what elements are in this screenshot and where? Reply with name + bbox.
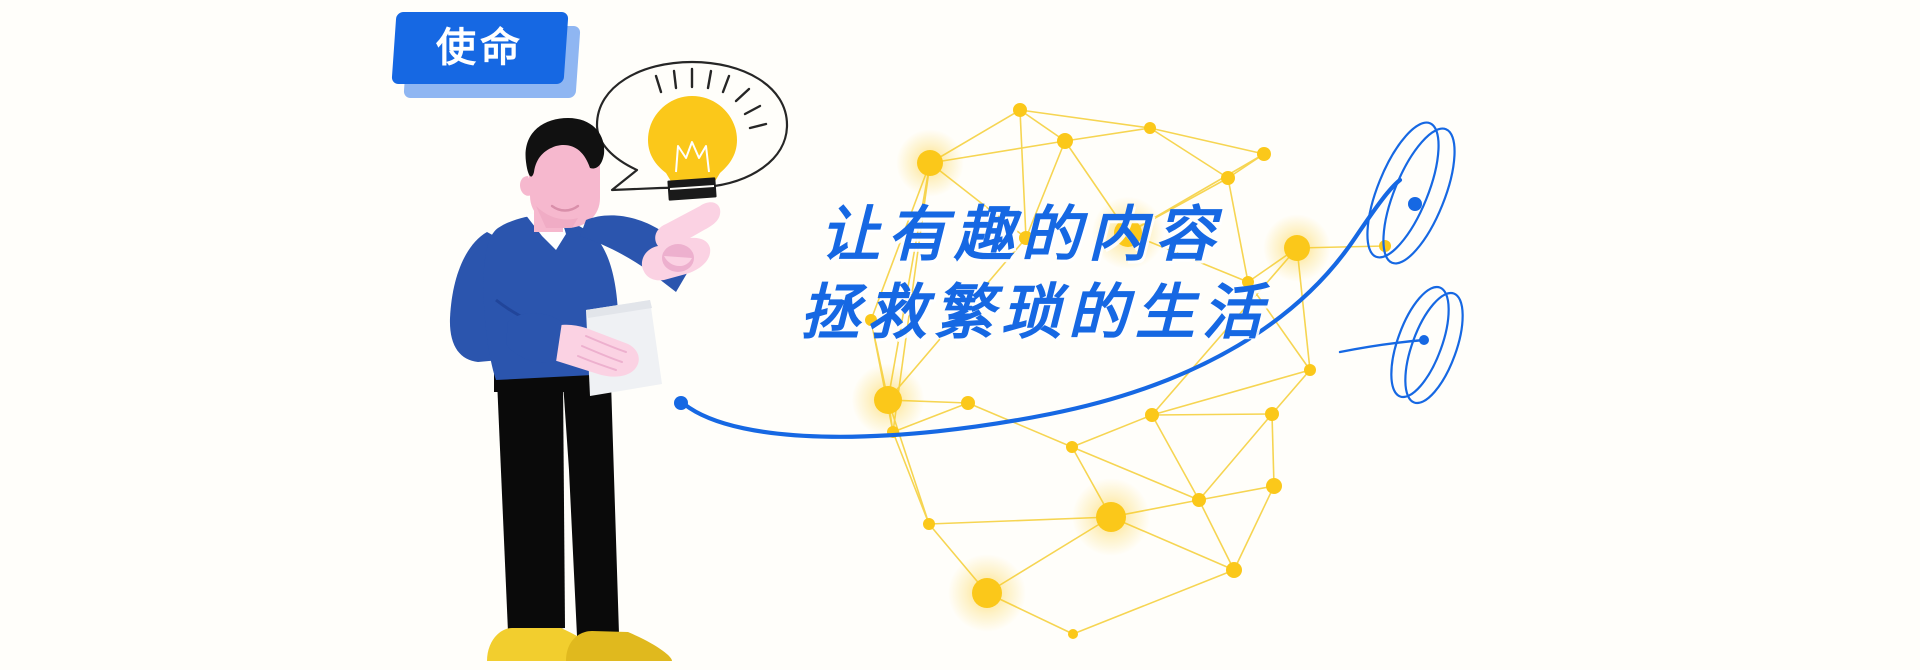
pants-left-leg	[497, 380, 565, 632]
headline-line-1: 让有趣的内容	[820, 196, 1540, 274]
headline: 让有趣的内容 拯救繁琐的生活	[820, 196, 1540, 352]
shoe-right	[566, 631, 672, 661]
mission-banner: 使命	[0, 0, 1920, 670]
idea-speech-bubble	[597, 62, 787, 201]
headline-line-2: 拯救繁琐的生活	[800, 274, 1540, 352]
pants-right-leg	[563, 382, 619, 636]
